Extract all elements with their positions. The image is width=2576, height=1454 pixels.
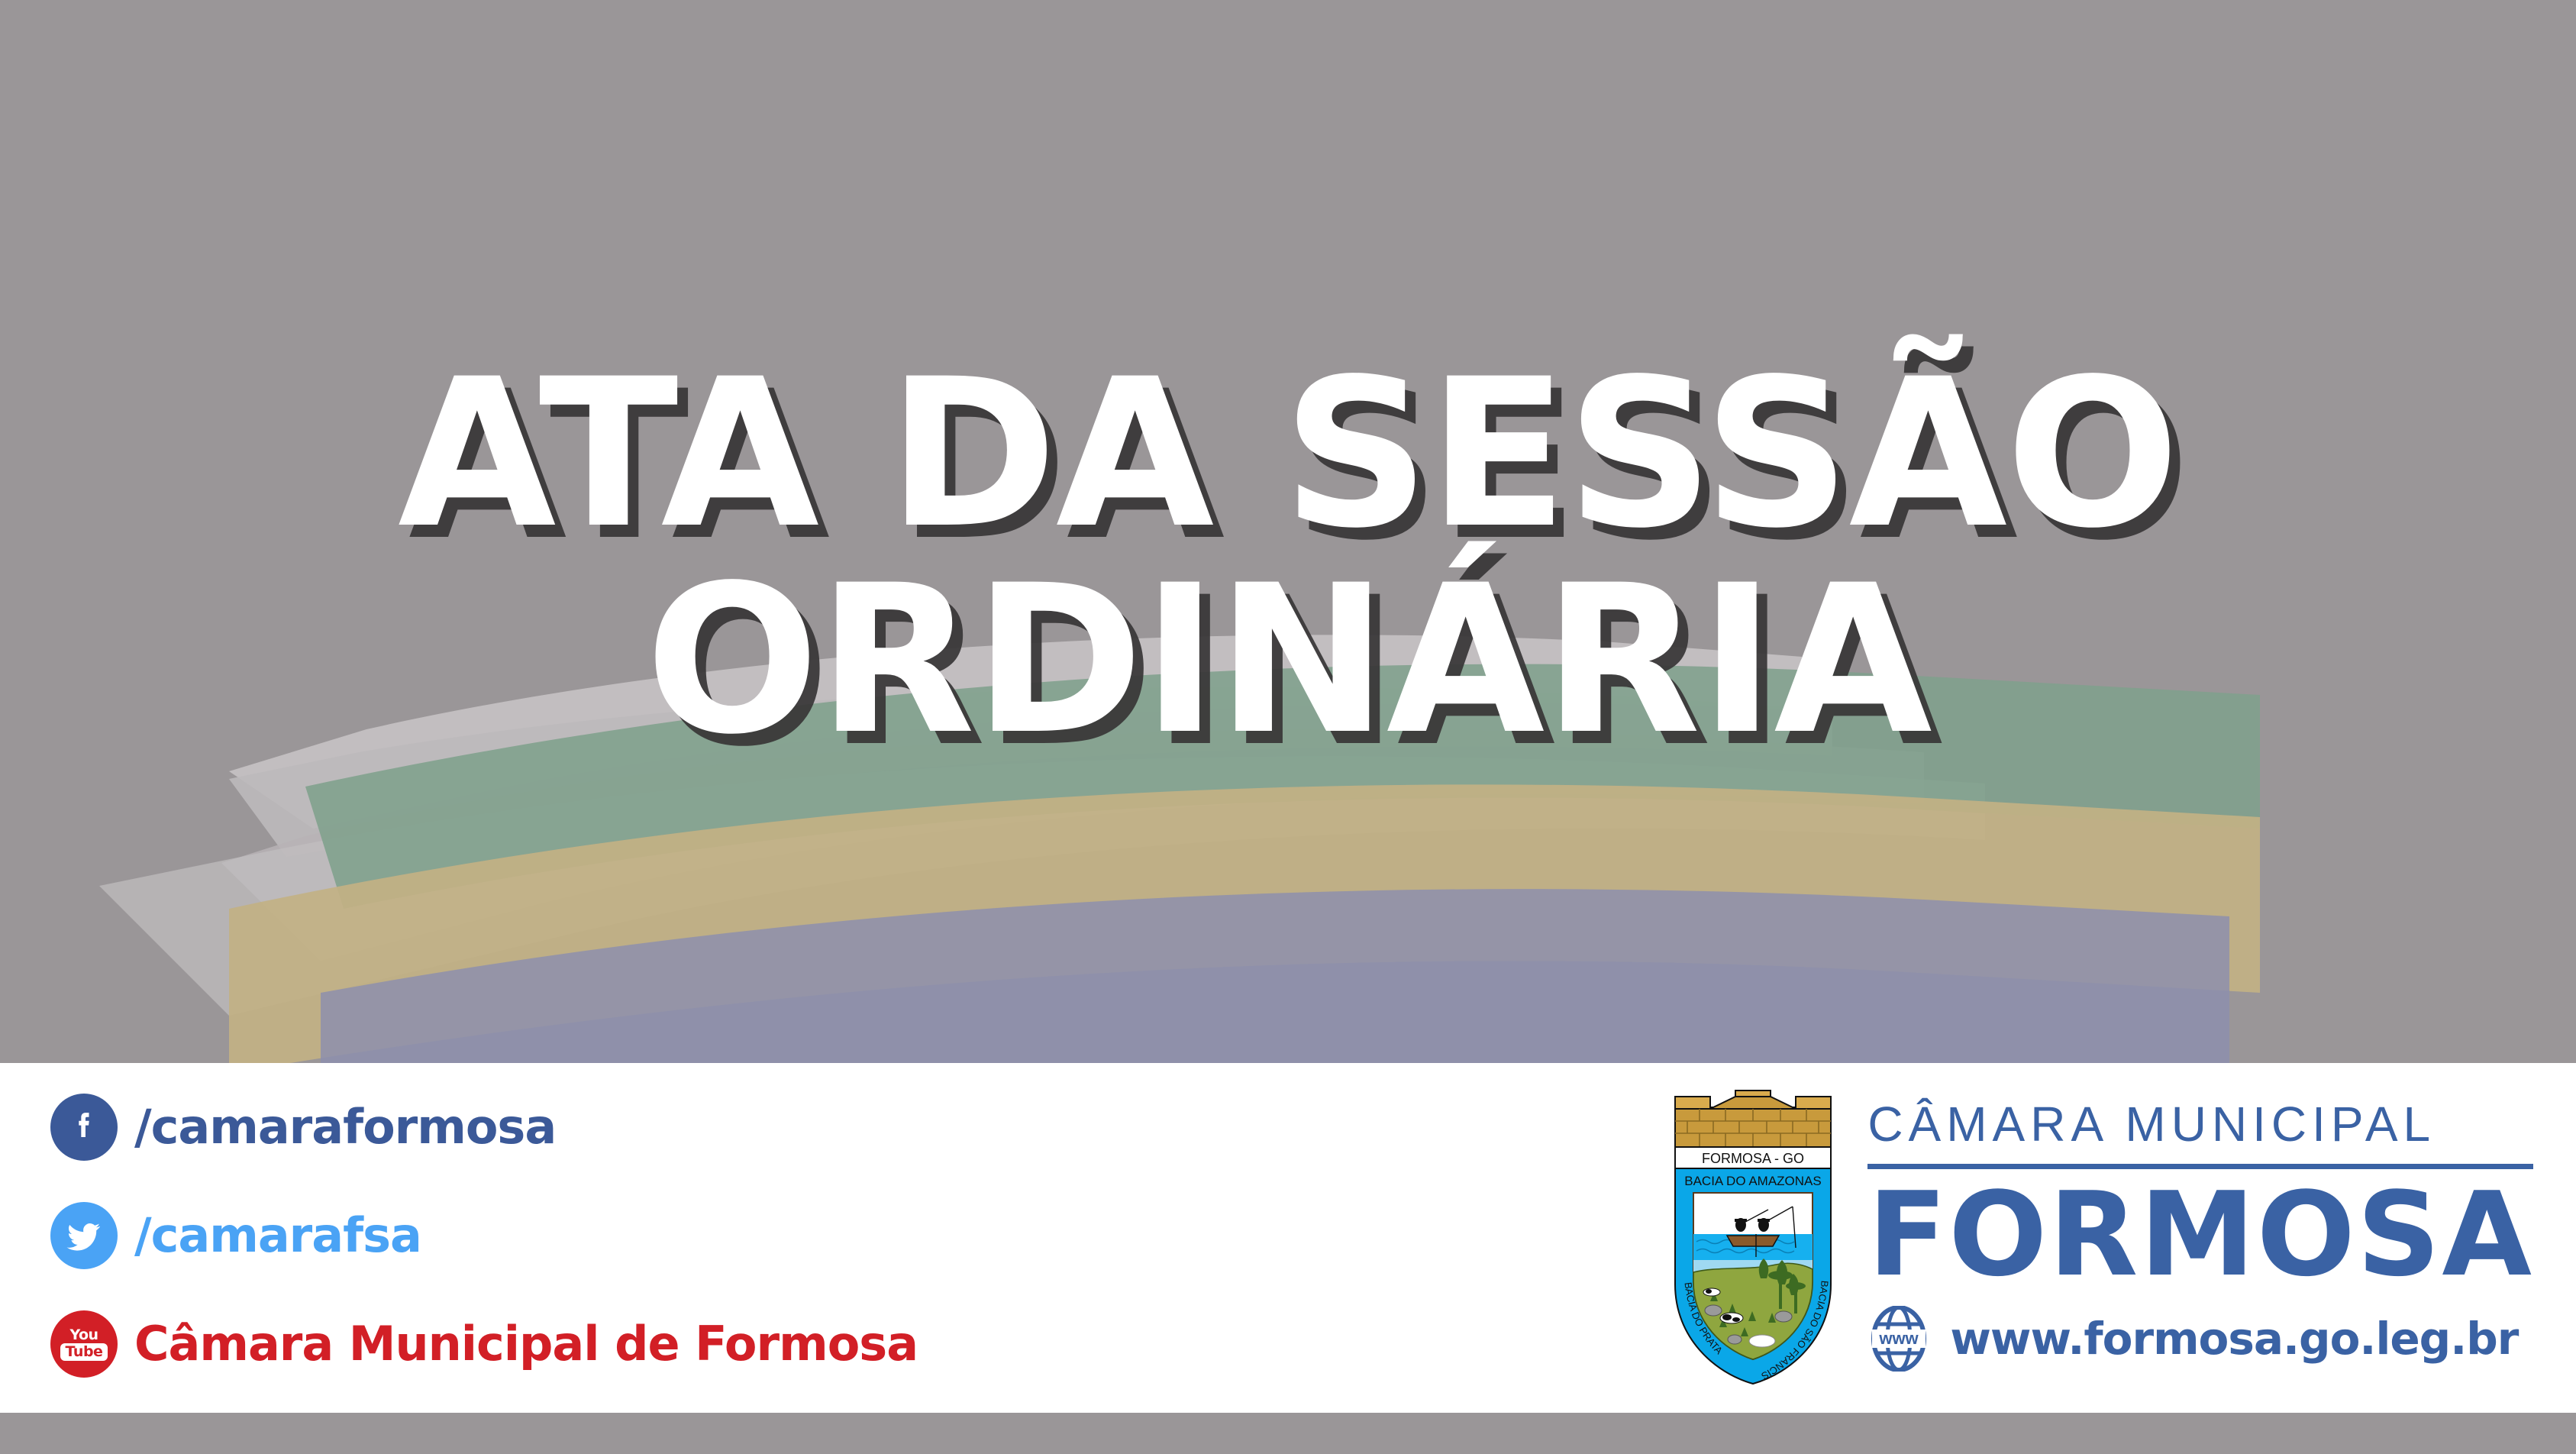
youtube-glyph: You Tube [60, 1326, 108, 1362]
twitter-icon[interactable] [50, 1202, 118, 1269]
hero-title-line1: ATA DA SESSÃO [398, 359, 2178, 551]
www-icon-text: www [1879, 1329, 1919, 1348]
facebook-icon[interactable] [50, 1094, 118, 1161]
social-row-facebook[interactable]: /camaraformosa [50, 1084, 1196, 1170]
social-links-list: /camaraformosa /camarafsa You Tube Câmar… [50, 1084, 1196, 1387]
hero-section: ATA DA SESSÃO ORDINÁRIA [0, 0, 2576, 1063]
youtube-icon[interactable]: You Tube [50, 1310, 118, 1378]
social-row-twitter[interactable]: /camarafsa [50, 1193, 1196, 1278]
bottom-gray-bar [0, 1413, 2576, 1454]
social-label-twitter[interactable]: /camarafsa [134, 1212, 421, 1259]
hero-title-line2: ORDINÁRIA [645, 565, 1931, 758]
institutional-logo: FORMOSA - GO BACIA DO AMAZONAS [1664, 1084, 2533, 1390]
social-label-youtube[interactable]: Câmara Municipal de Formosa [134, 1320, 918, 1368]
website-row[interactable]: www www.formosa.go.leg.br [1867, 1306, 2533, 1372]
logo-line-formosa: FORMOSA [1867, 1175, 2533, 1294]
social-label-facebook[interactable]: /camaraformosa [134, 1103, 556, 1151]
social-row-youtube[interactable]: You Tube Câmara Municipal de Formosa [50, 1301, 1196, 1387]
hero-title-block: ATA DA SESSÃO ORDINÁRIA [0, 0, 2576, 1063]
slide-canvas: ATA DA SESSÃO ORDINÁRIA /camaraformosa /… [0, 0, 2576, 1454]
crest-basin-top: BACIA DO AMAZONAS [1685, 1174, 1822, 1188]
youtube-glyph-tube: Tube [60, 1343, 108, 1361]
logo-line-camara-municipal: CÂMARA MUNICIPAL [1867, 1100, 2533, 1149]
www-globe-icon: www [1867, 1306, 1930, 1372]
crest-crown [1675, 1090, 1831, 1147]
logo-wordmark: CÂMARA MUNICIPAL FORMOSA www www.formosa… [1867, 1084, 2533, 1372]
crest-city-label: FORMOSA - GO [1702, 1151, 1804, 1166]
coat-of-arms-crest: FORMOSA - GO BACIA DO AMAZONAS [1664, 1084, 1842, 1390]
crest-boat [1727, 1236, 1779, 1246]
youtube-glyph-you: You [69, 1328, 98, 1342]
website-url[interactable]: www.formosa.go.leg.br [1950, 1317, 2518, 1361]
